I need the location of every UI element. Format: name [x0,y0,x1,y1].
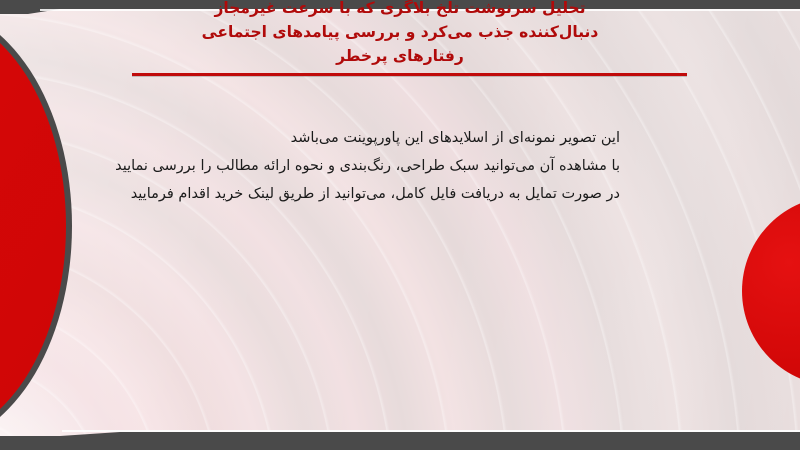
body-line-2: با مشاهده آن می‌توانید سبک طراحی، رنگ‌بن… [120,152,620,180]
body-line-3: در صورت تمایل به دریافت فایل کامل، می‌تو… [120,180,620,208]
title-underline-rule [132,73,687,76]
title-line-2: دنبال‌کننده جذب می‌کرد و بررسی پیامدهای … [100,20,700,44]
slide-canvas: تحلیل سرنوشت تلخ بلاگری که با سرعت غیرمج… [0,0,800,450]
bottom-band-highlight [62,430,800,432]
left-red-lens-decoration [0,10,74,442]
slide-title: تحلیل سرنوشت تلخ بلاگری که با سرعت غیرمج… [100,0,700,68]
title-line-1: تحلیل سرنوشت تلخ بلاگری که با سرعت غیرمج… [100,0,700,20]
slide-body-text: این تصویر نمونه‌ای از اسلایدهای این پاور… [120,124,620,208]
title-line-3: رفتارهای پرخطر [100,44,700,68]
body-line-1: این تصویر نمونه‌ای از اسلایدهای این پاور… [120,124,620,152]
